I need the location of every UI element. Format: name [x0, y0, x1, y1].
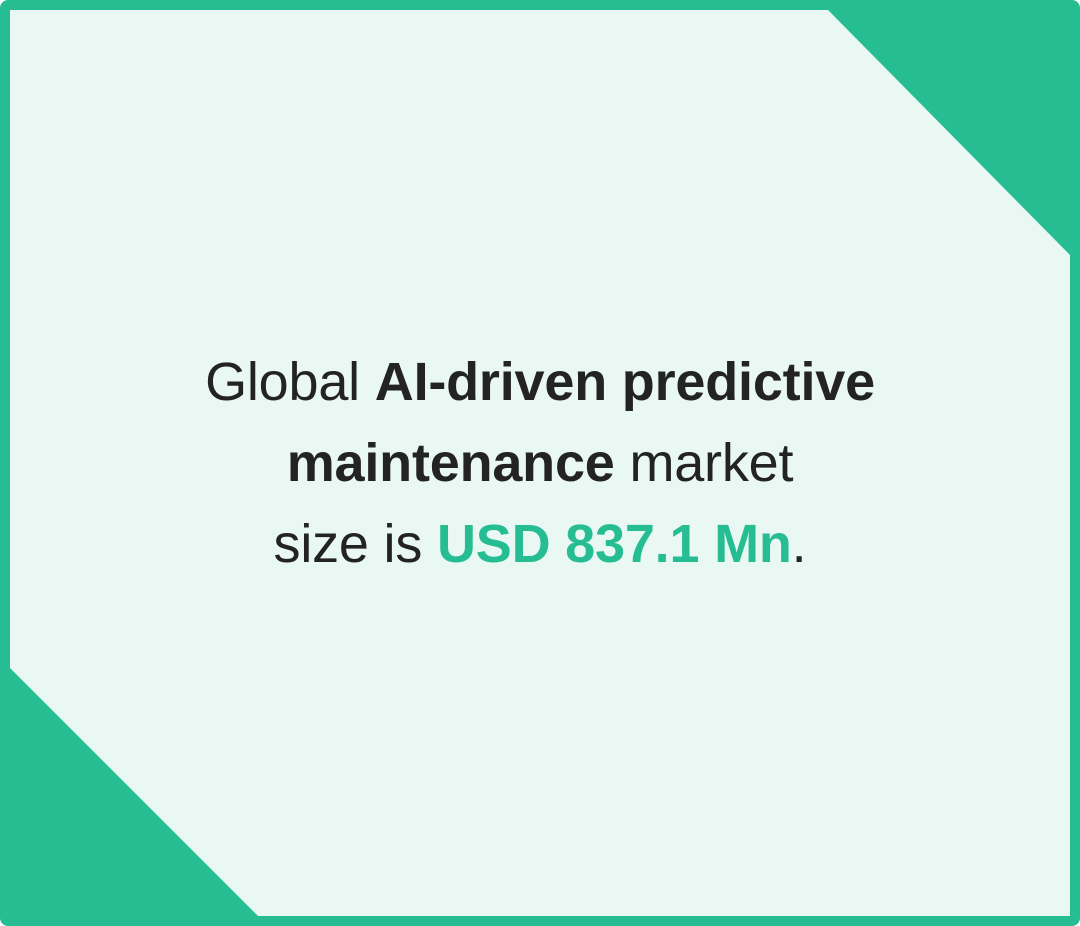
headline-emphasis-ai-driven-predictive: AI-driven predictive: [375, 352, 875, 412]
headline-line-2: maintenance market: [140, 423, 940, 504]
headline-line-3: size is USD 837.1 Mn.: [140, 504, 940, 585]
market-size-value: USD 837.1 Mn: [437, 514, 792, 574]
market-size-stat-card: Global AI-driven predictive maintenance …: [0, 0, 1080, 926]
headline-plain-size-is: size is: [274, 514, 437, 574]
headline-period: .: [792, 514, 807, 574]
headline-emphasis-maintenance: maintenance: [287, 433, 615, 493]
headline-container: Global AI-driven predictive maintenance …: [10, 10, 1070, 916]
headline-text: Global AI-driven predictive maintenance …: [140, 342, 940, 585]
headline-line-1: Global AI-driven predictive: [140, 342, 940, 423]
headline-plain-global: Global: [205, 352, 375, 412]
headline-plain-market: market: [615, 433, 794, 493]
